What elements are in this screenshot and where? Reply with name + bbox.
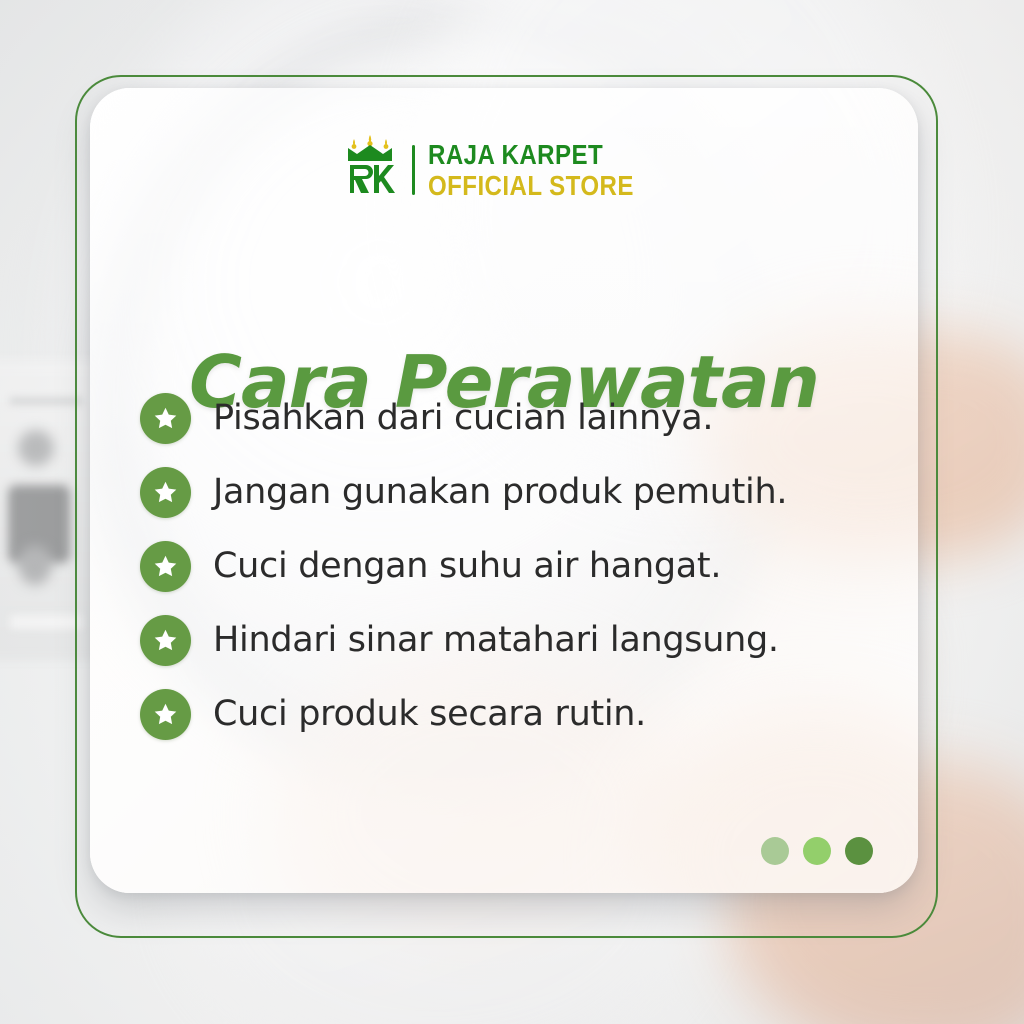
logo-line-raja-karpet: RAJA KARPET: [428, 141, 634, 169]
list-item-label: Jangan gunakan produk pemutih.: [213, 472, 787, 512]
list-item-label: Cuci produk secara rutin.: [213, 694, 646, 734]
list-item-label: Pisahkan dari cucian lainnya.: [213, 398, 713, 438]
list-item: Hindari sinar matahari langsung.: [140, 615, 888, 666]
page-dot-3[interactable]: [845, 837, 873, 865]
list-item: Pisahkan dari cucian lainnya.: [140, 393, 888, 444]
star-badge-icon: [140, 393, 191, 444]
logo-line-official-store: OFFICIAL STORE: [428, 172, 634, 200]
star-badge-icon: [140, 615, 191, 666]
star-badge-icon: [140, 467, 191, 518]
pagination-dots: [761, 837, 873, 865]
star-badge-icon: [140, 541, 191, 592]
list-item: Cuci produk secara rutin.: [140, 689, 888, 740]
list-item: Cuci dengan suhu air hangat.: [140, 541, 888, 592]
brand-logo: RAJA KARPET OFFICIAL STORE: [90, 135, 918, 205]
logo-wordmark: RAJA KARPET OFFICIAL STORE: [428, 141, 667, 200]
page-dot-1[interactable]: [761, 837, 789, 865]
crown-rk-monogram-icon: [341, 135, 399, 205]
list-item-label: Hindari sinar matahari langsung.: [213, 620, 779, 660]
logo-divider: [412, 145, 415, 195]
care-instructions-list: Pisahkan dari cucian lainnya. Jangan gun…: [140, 393, 888, 740]
list-item: Jangan gunakan produk pemutih.: [140, 467, 888, 518]
star-badge-icon: [140, 689, 191, 740]
page-dot-2[interactable]: [803, 837, 831, 865]
info-card: RAJA KARPET OFFICIAL STORE Cara Perawata…: [90, 88, 918, 893]
list-item-label: Cuci dengan suhu air hangat.: [213, 546, 721, 586]
